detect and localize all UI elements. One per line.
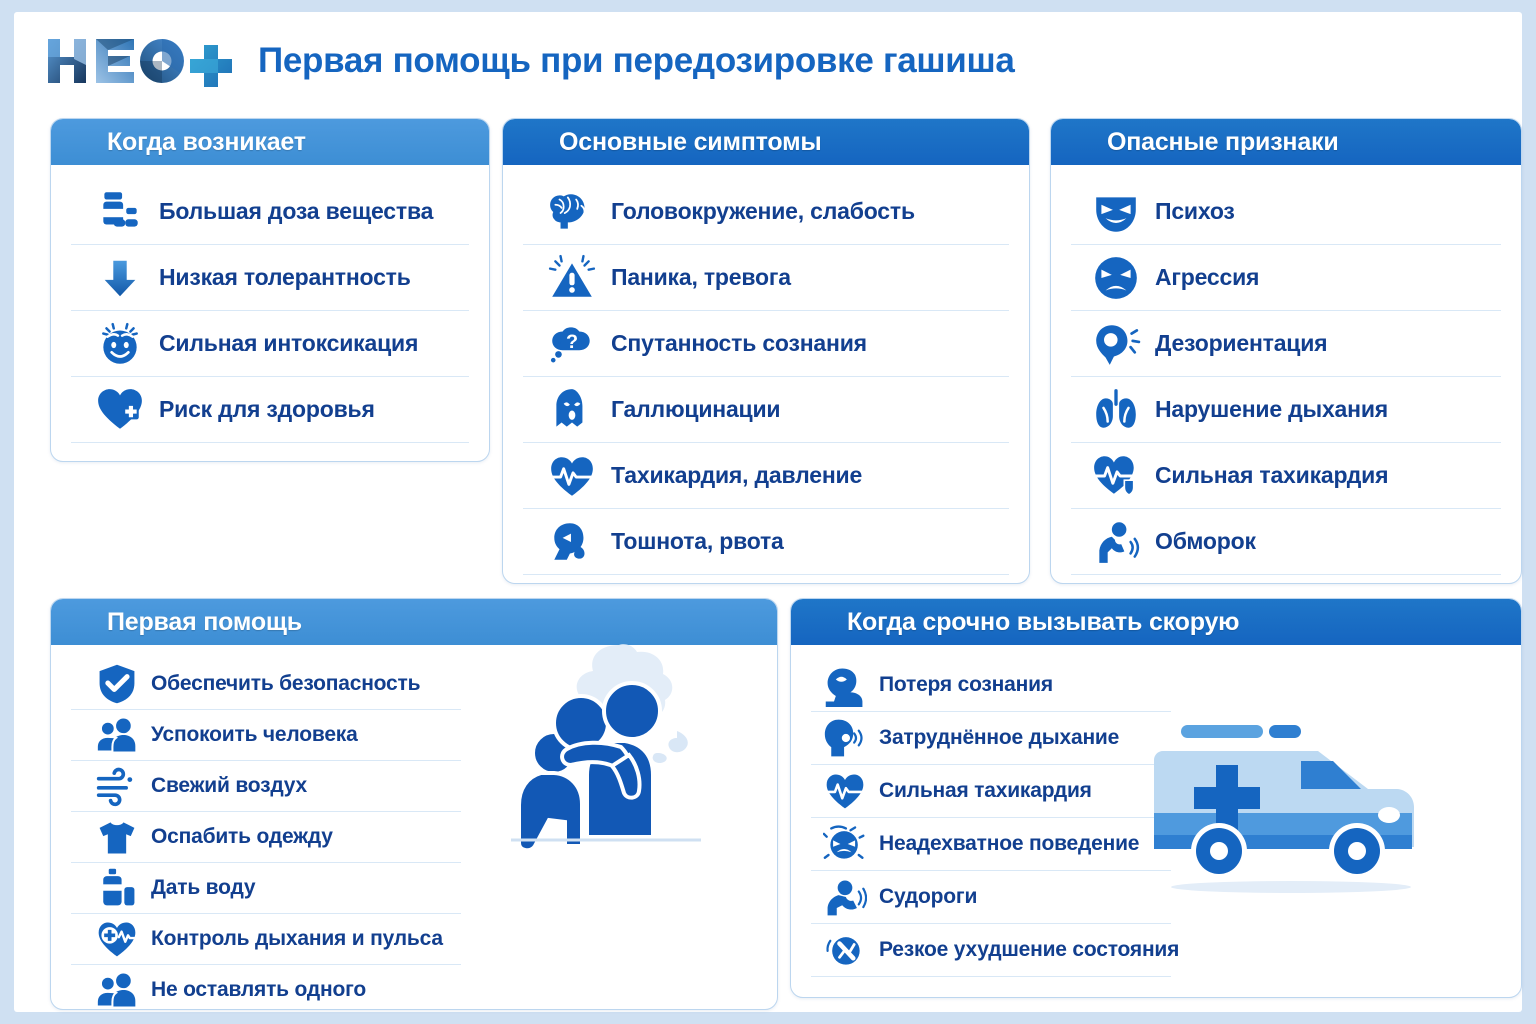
- list-item-label: Затруднённое дыхание: [879, 726, 1119, 750]
- list-item-label: Дать воду: [151, 876, 255, 900]
- list-item[interactable]: Обеспечить безопасность: [71, 659, 461, 710]
- list-item-label: Успокоить человека: [151, 723, 358, 747]
- warning-triangle-icon: [545, 251, 599, 305]
- heart-pulse-icon: [823, 769, 867, 813]
- card-call-ambulance: Когда срочно вызывать скорую Потеря созн…: [790, 598, 1522, 998]
- list-item[interactable]: Судороги: [811, 871, 1171, 924]
- card-item-list: Потеря сознания Затруднённое дыхание: [791, 645, 1191, 987]
- list-item-label: Головокружение, слабость: [611, 198, 915, 225]
- card-header: Первая помощь: [51, 599, 777, 645]
- page-header: Первая помощь при передозировке гашиша: [44, 18, 1484, 104]
- list-item[interactable]: Агрессия: [1071, 245, 1501, 311]
- list-item-label: Обеспечить безопасность: [151, 672, 420, 696]
- card-when-occurs: Когда возникает Большая доза вещества: [50, 118, 490, 462]
- card-main-symptoms: Основные симптомы Го: [502, 118, 1030, 584]
- agitated-face-icon: [823, 822, 867, 866]
- list-item-label: Контроль дыхания и пульса: [151, 927, 443, 951]
- list-item-label: Тошнота, рвота: [611, 528, 784, 555]
- list-item[interactable]: Нарушение дыхания: [1071, 377, 1501, 443]
- hugging-people-illustration: [501, 635, 771, 865]
- list-item[interactable]: Обморок: [1071, 509, 1501, 575]
- card-title: Когда возникает: [107, 128, 306, 157]
- list-item-label: Низкая толерантность: [159, 264, 411, 291]
- list-item-label: Обморок: [1155, 528, 1256, 555]
- list-item-label: Галлюцинации: [611, 396, 780, 423]
- list-item[interactable]: Дать воду: [71, 863, 461, 914]
- heart-pulse-shield-icon: [1089, 449, 1143, 503]
- vomit-icon: [545, 515, 599, 569]
- list-item[interactable]: Тошнота, рвота: [523, 509, 1009, 575]
- unconscious-person-icon: [823, 663, 867, 707]
- card-item-list: Психоз Агрессия: [1051, 165, 1521, 584]
- list-item[interactable]: Головокружение, слабость: [523, 179, 1009, 245]
- list-item-label: Дезориентация: [1155, 330, 1327, 357]
- list-item[interactable]: Не оставлять одного: [71, 965, 461, 1010]
- ghost-icon: [545, 383, 599, 437]
- list-item-label: Сильная тахикардия: [1155, 462, 1388, 489]
- list-item[interactable]: Успокоить человека: [71, 710, 461, 761]
- list-item-label: Спутанность сознания: [611, 330, 867, 357]
- list-item[interactable]: Оспабить одежду: [71, 812, 461, 863]
- list-item[interactable]: Большая доза вещества: [71, 179, 469, 245]
- card-danger-signs: Опасные признаки Психоз: [1050, 118, 1522, 584]
- list-item-label: Оспабить одежду: [151, 825, 333, 849]
- list-item-label: Психоз: [1155, 198, 1235, 225]
- down-arrow-icon: [93, 251, 147, 305]
- disoriented-head-icon: [1089, 317, 1143, 371]
- list-item[interactable]: Тахикардия, давление: [523, 443, 1009, 509]
- angry-face-icon: [1089, 251, 1143, 305]
- list-item[interactable]: Резкое ухудшение состояния: [811, 924, 1171, 977]
- card-item-list: Головокружение, слабость Паника, тревога: [503, 165, 1029, 584]
- list-item[interactable]: ? Спутанность сознания: [523, 311, 1009, 377]
- breathing-difficulty-icon: [823, 716, 867, 760]
- deterioration-icon: [823, 928, 867, 972]
- list-item[interactable]: Контроль дыхания и пульса: [71, 914, 461, 965]
- list-item-label: Агрессия: [1155, 264, 1259, 291]
- list-item[interactable]: Низкая толерантность: [71, 245, 469, 311]
- list-item-label: Риск для здоровья: [159, 396, 375, 423]
- brain-icon: [545, 185, 599, 239]
- shield-check-icon: [95, 662, 139, 706]
- card-title: Первая помощь: [107, 608, 302, 637]
- list-item[interactable]: Сильная тахикардия: [1071, 443, 1501, 509]
- list-item-label: Неадехватное поведение: [879, 832, 1139, 856]
- lungs-icon: [1089, 383, 1143, 437]
- list-item[interactable]: Свежий воздух: [71, 761, 461, 812]
- card-title: Основные симптомы: [559, 128, 822, 157]
- dizzy-face-icon: [93, 317, 147, 371]
- heart-monitor-icon: [95, 917, 139, 961]
- card-header: Когда срочно вызывать скорую: [791, 599, 1521, 645]
- water-bottle-icon: [95, 866, 139, 910]
- card-title: Когда срочно вызывать скорую: [847, 608, 1239, 637]
- list-item-label: Большая доза вещества: [159, 198, 433, 225]
- list-item[interactable]: Потеря сознания: [811, 659, 1171, 712]
- tshirt-icon: [95, 815, 139, 859]
- neo-plus-logo: [44, 33, 236, 89]
- two-people-icon: [95, 713, 139, 757]
- list-item-label: Нарушение дыхания: [1155, 396, 1388, 423]
- page-title: Первая помощь при передозировке гашиша: [258, 41, 1015, 81]
- list-item[interactable]: Дезориентация: [1071, 311, 1501, 377]
- seizure-person-icon: [823, 875, 867, 919]
- list-item-label: Резкое ухудшение состояния: [879, 938, 1179, 962]
- list-item[interactable]: Сильная тахикардия: [811, 765, 1171, 818]
- heart-pulse-icon: [545, 449, 599, 503]
- svg-text:?: ?: [566, 331, 578, 353]
- list-item[interactable]: Галлюцинации: [523, 377, 1009, 443]
- list-item-label: Сильная тахикардия: [879, 779, 1092, 803]
- list-item[interactable]: Риск для здоровья: [71, 377, 469, 443]
- list-item-label: Паника, тревога: [611, 264, 791, 291]
- list-item[interactable]: Паника, тревога: [523, 245, 1009, 311]
- list-item-label: Потеря сознания: [879, 673, 1053, 697]
- list-item[interactable]: Затруднённое дыхание: [811, 712, 1171, 765]
- wind-icon: [95, 764, 139, 808]
- card-header: Основные симптомы: [503, 119, 1029, 165]
- list-item-label: Не оставлять одного: [151, 978, 366, 1002]
- infographic-sheet: Первая помощь при передозировке гашиша К…: [14, 12, 1522, 1012]
- fainting-person-icon: [1089, 515, 1143, 569]
- card-title: Опасные признаки: [1107, 128, 1339, 157]
- list-item[interactable]: Неадехватное поведение: [811, 818, 1171, 871]
- list-item-label: Тахикардия, давление: [611, 462, 862, 489]
- heart-cross-icon: [93, 383, 147, 437]
- evil-mask-icon: [1089, 185, 1143, 239]
- list-item-label: Свежий воздух: [151, 774, 307, 798]
- card-item-list: Обеспечить безопасность Успокоить челове…: [51, 645, 481, 1010]
- card-first-aid: Первая помощь Обеспечить безопасность: [50, 598, 778, 1010]
- list-item[interactable]: Психоз: [1071, 179, 1501, 245]
- list-item-label: Сильная интоксикация: [159, 330, 418, 357]
- two-people-icon: [95, 968, 139, 1010]
- card-header: Опасные признаки: [1051, 119, 1521, 165]
- card-header: Когда возникает: [51, 119, 489, 165]
- pill-bottle-icon: [93, 185, 147, 239]
- question-cloud-icon: ?: [545, 317, 599, 371]
- list-item-label: Судороги: [879, 885, 977, 909]
- card-item-list: Большая доза вещества Низкая толерантнос…: [51, 165, 489, 453]
- list-item[interactable]: Сильная интоксикация: [71, 311, 469, 377]
